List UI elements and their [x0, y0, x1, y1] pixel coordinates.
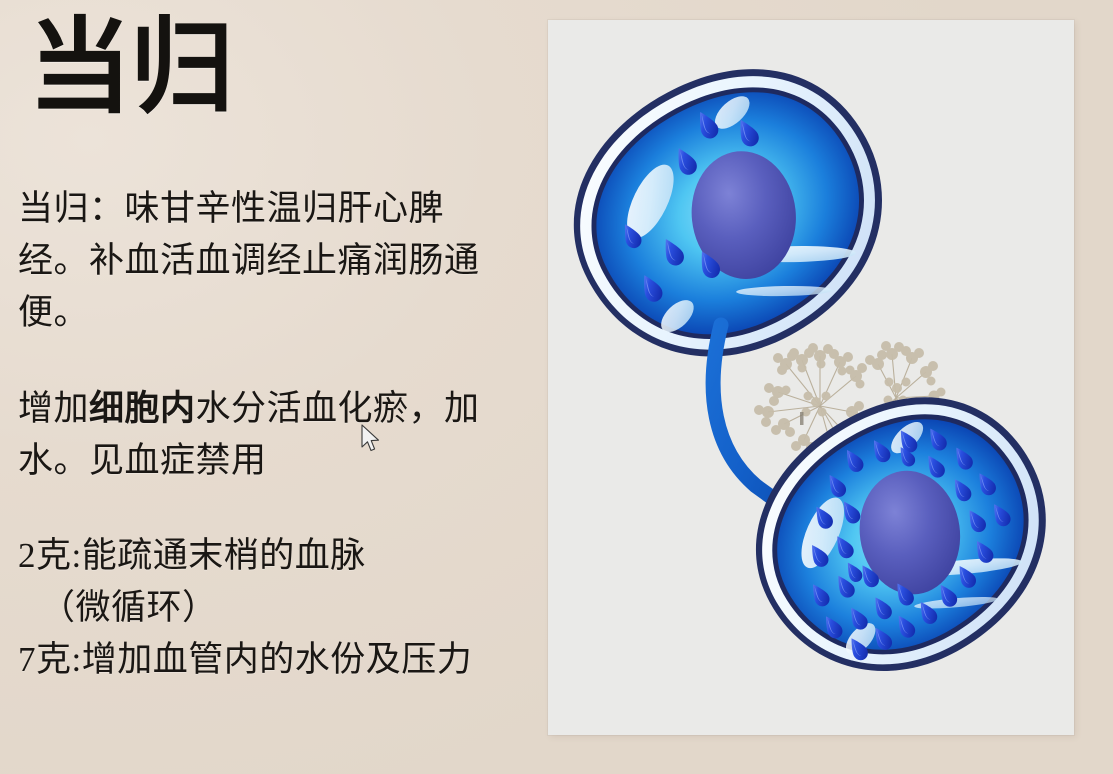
illustration-panel — [548, 20, 1074, 735]
effect-prefix-text: 增加 — [18, 389, 89, 428]
dose-line-2: 7克:增加血管内的水份及压力 — [18, 640, 472, 679]
cell-after — [709, 348, 1074, 722]
plant-label-tick — [800, 412, 804, 425]
flower-cluster — [865, 350, 887, 370]
slide-canvas: 当归 当归：味甘辛性温归肝心脾经。补血活血调经止痛润肠通便。 增加细胞内水分活血… — [0, 0, 1113, 774]
flower-cluster — [754, 405, 774, 427]
effect-bold-text: 细胞内 — [89, 389, 196, 428]
flower-cluster — [846, 363, 868, 389]
effect-paragraph: 增加细胞内水分活血化瘀，加水。见血症禁用 — [18, 383, 488, 487]
flower-cluster — [901, 346, 924, 364]
description-paragraph: 当归：味甘辛性温归肝心脾经。补血活血调经止痛润肠通便。 — [18, 183, 488, 339]
page-title: 当归 — [28, 14, 232, 124]
dosage-paragraph: 2克:能疏通末梢的血脉 （微循环） 7克:增加血管内的水份及压力 — [18, 530, 488, 686]
text-column: 当归 当归：味甘辛性温归肝心脾经。补血活血调经止痛润肠通便。 增加细胞内水分活血… — [0, 0, 540, 774]
dose-line-1-note: （微循环） — [18, 582, 218, 634]
description-text: 当归：味甘辛性温归肝心脾经。补血活血调经止痛润肠通便。 — [18, 189, 480, 332]
dose-line-1: 2克:能疏通末梢的血脉 — [18, 536, 366, 575]
flower-cluster — [920, 361, 938, 386]
cell-diagram — [548, 20, 1074, 735]
cell-before — [548, 20, 931, 407]
